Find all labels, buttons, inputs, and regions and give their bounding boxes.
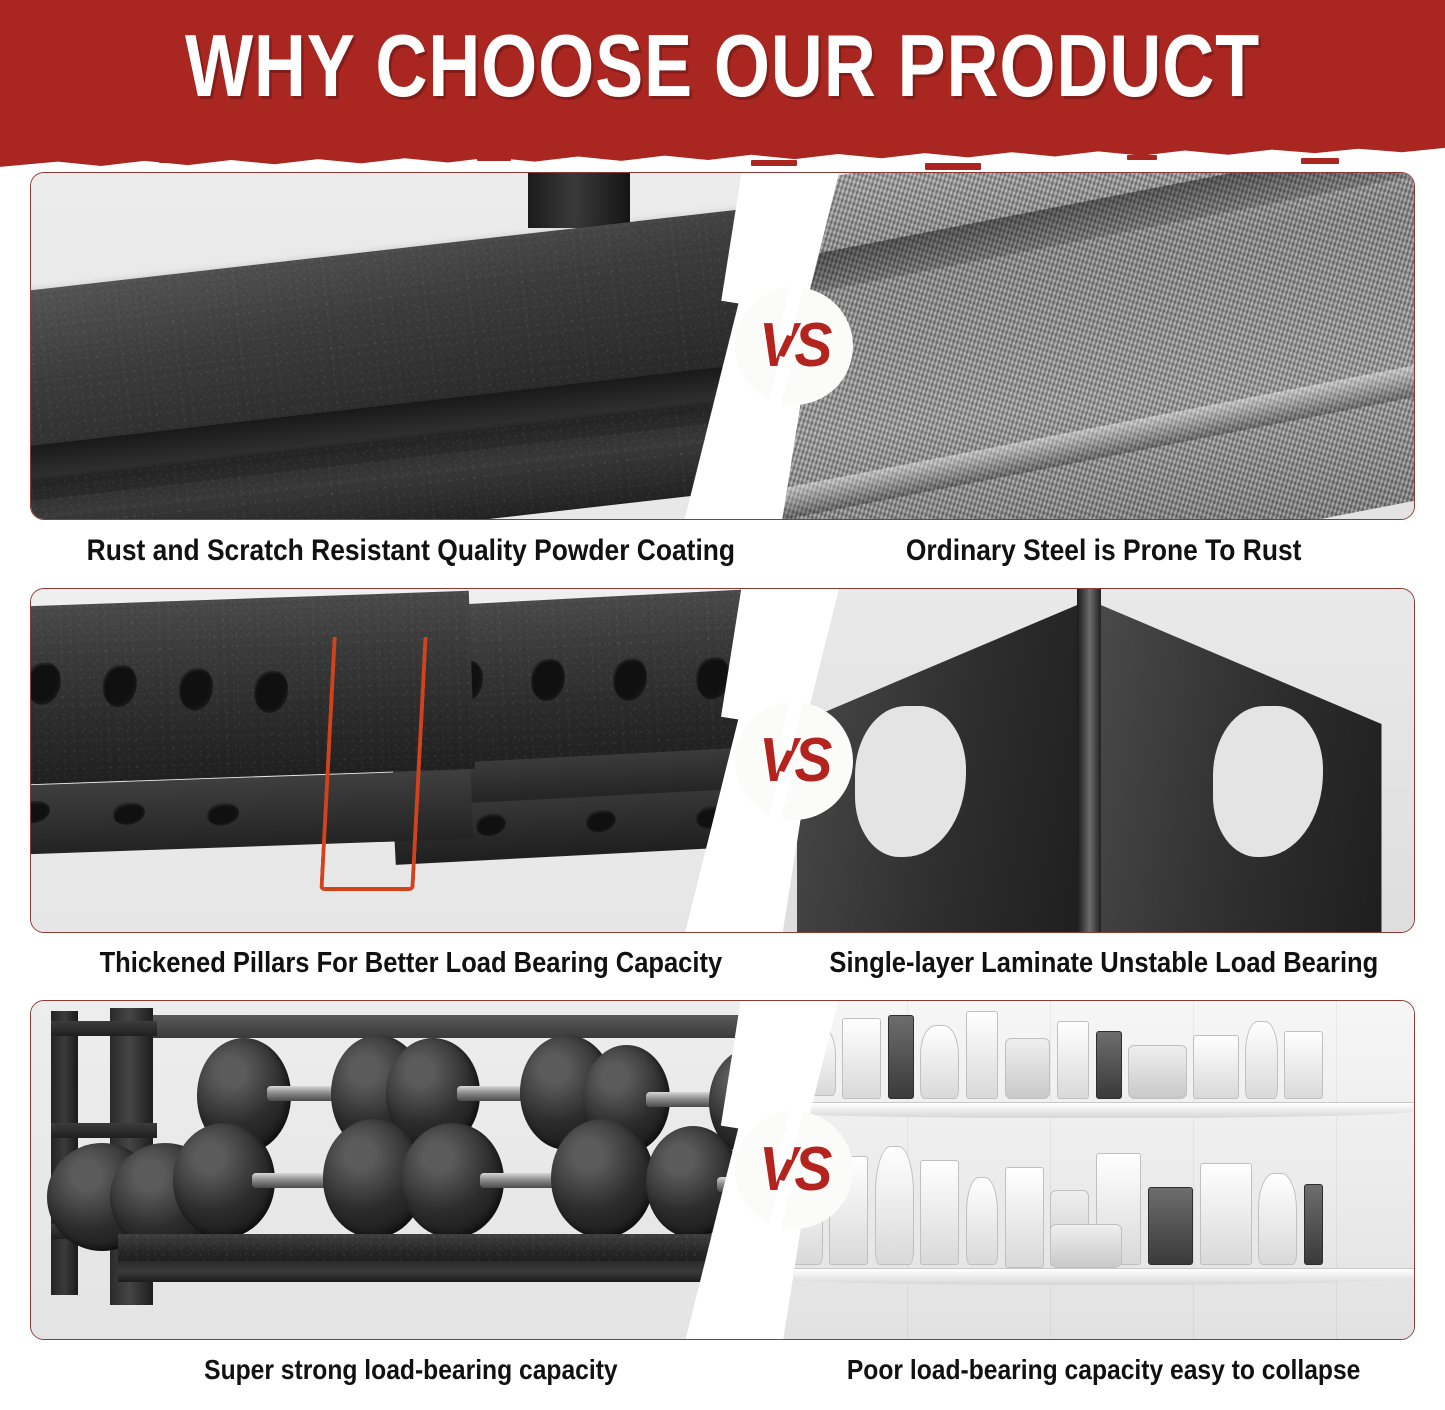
- caption-bar: Rust and Scratch Resistant Quality Powde…: [30, 520, 1415, 574]
- panel-image-right: [764, 589, 1414, 932]
- shelf-board-lower: [764, 1268, 1414, 1285]
- cosmetic-item: [1304, 1184, 1324, 1265]
- keyhole-slot: [475, 813, 506, 837]
- comparison-row-coating: VS Rust and Scratch Resistant Quality Po…: [30, 172, 1415, 574]
- cosmetic-item: [920, 1160, 959, 1265]
- comparison-rows: VS Rust and Scratch Resistant Quality Po…: [0, 172, 1445, 1392]
- cosmetic-item: [1128, 1045, 1187, 1099]
- panel-frame: VS: [30, 172, 1415, 520]
- panel-image-right: [764, 173, 1414, 519]
- comparison-row-load: VS Super strong load-bearing capacity Po…: [30, 1000, 1415, 1392]
- cosmetic-item: [1245, 1021, 1278, 1099]
- tear-fleck: [751, 160, 797, 166]
- tear-fleck: [1301, 158, 1339, 164]
- panel-frame: VS: [30, 1000, 1415, 1340]
- caption-right: Ordinary Steel is Prone To Rust: [829, 534, 1377, 568]
- caption-right: Poor load-bearing capacity easy to colla…: [829, 1354, 1377, 1386]
- keyhole-slot: [207, 802, 240, 825]
- shelf-board-top: [133, 1015, 819, 1039]
- profile-highlight-outline: [319, 637, 427, 891]
- caption-left: Super strong load-bearing capacity: [76, 1354, 746, 1386]
- cosmetic-item: [1005, 1167, 1044, 1268]
- caption-bar: Thickened Pillars For Better Load Bearin…: [30, 933, 1415, 986]
- tear-fleck: [925, 163, 981, 170]
- panel-frame: VS: [30, 588, 1415, 933]
- cosmetic-item: [920, 1025, 959, 1099]
- cosmetic-item: [1193, 1035, 1239, 1099]
- cosmetic-item: [966, 1177, 999, 1265]
- rack-crossbar: [51, 1021, 157, 1036]
- cosmetic-item: [875, 1146, 914, 1264]
- cosmetic-item: [1148, 1187, 1194, 1265]
- tear-fleck: [477, 155, 511, 161]
- cosmetic-item: [1284, 1031, 1323, 1099]
- cosmetic-item: [888, 1015, 914, 1100]
- cosmetic-item: [1200, 1163, 1252, 1264]
- cosmetic-item: [1057, 1021, 1090, 1099]
- shelf-post: [528, 173, 630, 228]
- rack-crossbar: [51, 1123, 157, 1138]
- keyhole-slot: [585, 809, 616, 833]
- keyhole-slot: [113, 801, 146, 824]
- caption-left: Thickened Pillars For Better Load Bearin…: [76, 947, 746, 980]
- dumbbell-plate: [551, 1119, 653, 1237]
- cosmetic-item: [1096, 1031, 1122, 1099]
- tear-fleck: [43, 151, 83, 158]
- vs-label: VS: [759, 315, 830, 377]
- page-title: WHY CHOOSE OUR PRODUCT: [130, 18, 1315, 114]
- cosmetic-item: [1005, 1038, 1051, 1099]
- caption-left: Rust and Scratch Resistant Quality Powde…: [76, 534, 746, 568]
- post-spine: [1077, 589, 1100, 932]
- rusty-steel-image: [764, 173, 1414, 519]
- vs-label: VS: [759, 730, 830, 792]
- vs-label: VS: [759, 1139, 830, 1201]
- keyhole-slot: [31, 801, 51, 824]
- vs-badge: VS: [735, 1111, 853, 1229]
- header-banner: WHY CHOOSE OUR PRODUCT: [0, 0, 1445, 172]
- vs-badge: VS: [735, 702, 853, 820]
- tear-fleck: [159, 158, 185, 163]
- cosmetic-item: [842, 1018, 881, 1099]
- cosmetic-item: [1050, 1224, 1122, 1268]
- vs-badge: VS: [735, 287, 853, 405]
- cosmetic-item: [1258, 1173, 1297, 1264]
- caption-bar: Super strong load-bearing capacity Poor …: [30, 1340, 1415, 1392]
- panel-image-right: [764, 1001, 1414, 1339]
- comparison-row-pillars: VS Thickened Pillars For Better Load Bea…: [30, 588, 1415, 986]
- cosmetic-item: [966, 1011, 999, 1099]
- caption-right: Single-layer Laminate Unstable Load Bear…: [829, 947, 1378, 980]
- shelf-board-upper: [764, 1102, 1414, 1117]
- single-layer-laminate-image: [764, 589, 1414, 932]
- tear-fleck: [1127, 155, 1157, 160]
- cosmetics-shelf-image: [764, 1001, 1414, 1339]
